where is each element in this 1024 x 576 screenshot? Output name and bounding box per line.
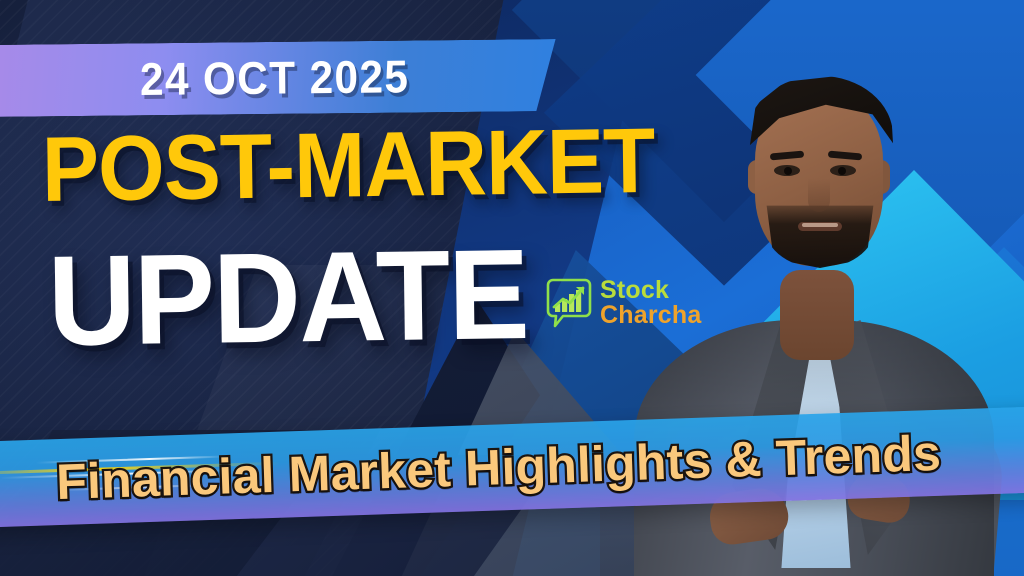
portrait-smile-highlight bbox=[802, 223, 838, 227]
portrait-pupil-right bbox=[838, 167, 846, 175]
portrait-pupil-left bbox=[784, 167, 792, 175]
thumbnail-canvas: 24 OCT 2025 POST-MARKET UPDATE Stock Cha… bbox=[0, 0, 1024, 576]
page-title-line-1: POST-MARKET bbox=[41, 117, 655, 214]
brand-word-stock: Stock bbox=[600, 278, 701, 303]
brand-word-charcha: Charcha bbox=[600, 303, 701, 328]
page-title-line-2: UPDATE bbox=[47, 235, 528, 362]
portrait-neck bbox=[780, 270, 854, 360]
brand-logo: Stock Charcha bbox=[546, 278, 701, 328]
brand-logo-wordmark: Stock Charcha bbox=[600, 278, 701, 328]
date-badge-label: 24 OCT 2025 bbox=[140, 44, 527, 110]
growth-chart-speech-bubble-icon bbox=[546, 278, 592, 328]
portrait-nose bbox=[808, 178, 830, 212]
